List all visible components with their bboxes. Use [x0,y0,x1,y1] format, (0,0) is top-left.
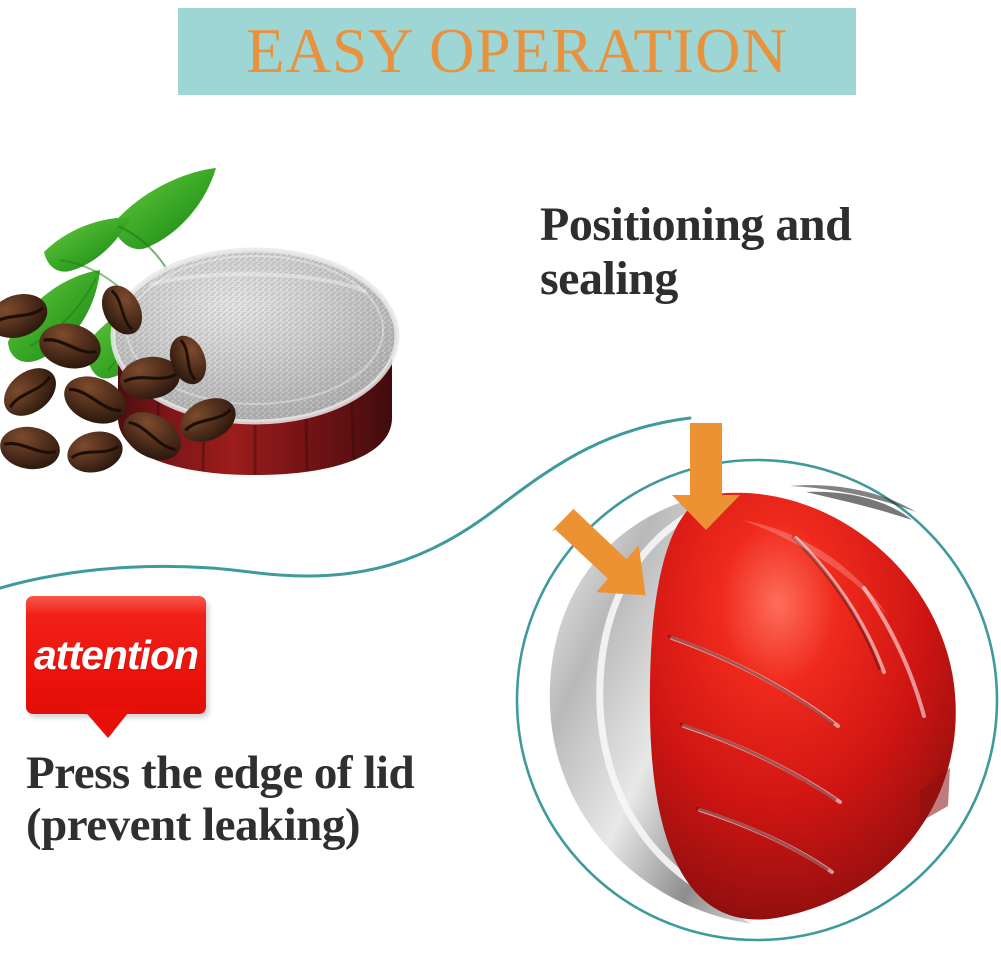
capsule-dome [650,493,956,920]
press-callout: Press the edge of lid (prevent leaking) [26,748,496,851]
dome-grooves [672,538,924,872]
arrow-diagonal-icon [550,506,645,598]
foil-lid [113,250,397,422]
positioning-line-1: Positioning and [540,198,960,252]
press-line-2: (prevent leaking) [26,800,496,852]
teal-circle-outline [517,460,997,940]
foil-rim [550,494,760,924]
press-line-1: Press the edge of lid [26,748,496,800]
capsule-top-image [0,130,510,475]
page-title: EASY OPERATION [178,8,856,95]
arrow-down-icon [672,423,740,530]
attention-badge: attention [26,596,226,738]
positioning-callout: Positioning and sealing [540,198,960,306]
positioning-line-2: sealing [540,252,960,306]
attention-label: attention [26,596,206,714]
dome-emboss [920,768,950,822]
infographic-page: EASY OPERATION [0,0,1001,953]
